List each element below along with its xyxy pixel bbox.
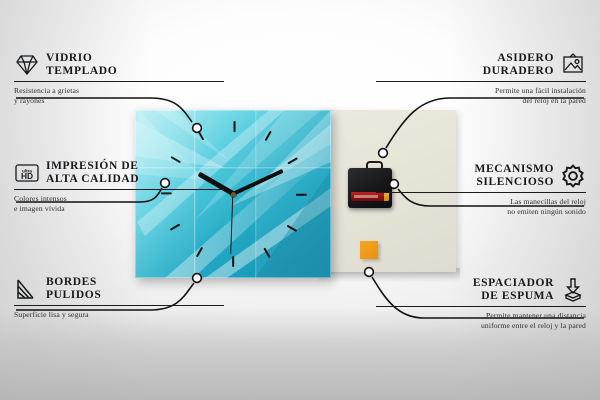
feature-rule	[14, 81, 224, 82]
feature-title-line1: MECANISMO	[474, 163, 554, 175]
feature-vidrio-templado: VIDRIO TEMPLADO Resistencia a grietas y …	[14, 52, 224, 105]
feature-body-line1: Colores intensos	[14, 194, 67, 203]
feature-mecanismo-silencioso: MECANISMO SILENCIOSO Las manecillas del …	[376, 163, 586, 216]
feature-title-line1: BORDES	[46, 276, 97, 288]
feature-body-line1: Superficie lisa y segura	[14, 310, 89, 319]
foam-spacer-icon	[560, 277, 586, 303]
polished-edges-icon	[14, 276, 40, 302]
feature-rule	[14, 189, 224, 190]
ultra-hd-icon: ultra HD	[14, 160, 40, 186]
feature-title-line2: TEMPLADO	[46, 65, 117, 77]
ultra-hd-icon-large-text: HD	[21, 171, 33, 181]
feature-title-line2: PULIDOS	[46, 289, 101, 301]
feature-body-line1: Resistencia a grietas	[14, 86, 79, 95]
diamond-icon	[14, 52, 40, 78]
feature-title-line1: VIDRIO	[46, 52, 92, 64]
feature-title-line2: DURADERO	[483, 65, 554, 77]
feature-title-line1: IMPRESIÓN DE	[46, 160, 139, 172]
feature-rule	[376, 192, 586, 193]
feature-body-line2: uniforme entre el reloj y la pared	[481, 321, 586, 330]
feature-title-line1: ESPACIADOR	[473, 277, 554, 289]
feature-title-line2: SILENCIOSO	[476, 176, 554, 188]
feature-title-line2: DE ESPUMA	[481, 290, 554, 302]
battery-label-strip	[354, 195, 378, 198]
picture-hanger-icon	[560, 52, 586, 78]
feature-body-line1: Las manecillas del reloj	[510, 197, 586, 206]
feature-rule	[376, 306, 586, 307]
gear-icon	[560, 163, 586, 189]
feature-bordes-pulidos: BORDES PULIDOS Superficie lisa y segura	[14, 276, 224, 320]
feature-title-line2: ALTA CALIDAD	[46, 173, 139, 185]
feature-espaciador-de-espuma: ESPACIADOR DE ESPUMA Permite mantener un…	[376, 277, 586, 330]
feature-impresion-alta-calidad: ultra HD IMPRESIÓN DE ALTA CALIDAD Color…	[14, 160, 224, 213]
feature-body-line2: no emiten ningún sonido	[507, 207, 586, 216]
feature-body-line1: Permite mantener una distancia	[486, 311, 586, 320]
feature-title-line1: ASIDERO	[497, 52, 554, 64]
feature-rule	[376, 81, 586, 82]
feature-rule	[14, 305, 224, 306]
feature-body-line1: Permite una fácil instalación	[495, 86, 586, 95]
feature-body-line2: del reloj en la pared	[523, 96, 586, 105]
infographic-canvas: VIDRIO TEMPLADO Resistencia a grietas y …	[0, 0, 600, 400]
feature-asidero-duradero: ASIDERO DURADERO Permite una fácil insta…	[376, 52, 586, 105]
feature-body-line2: e imagen vívida	[14, 204, 65, 213]
foam-spacer	[360, 241, 378, 259]
feature-body-line2: y rayones	[14, 96, 45, 105]
